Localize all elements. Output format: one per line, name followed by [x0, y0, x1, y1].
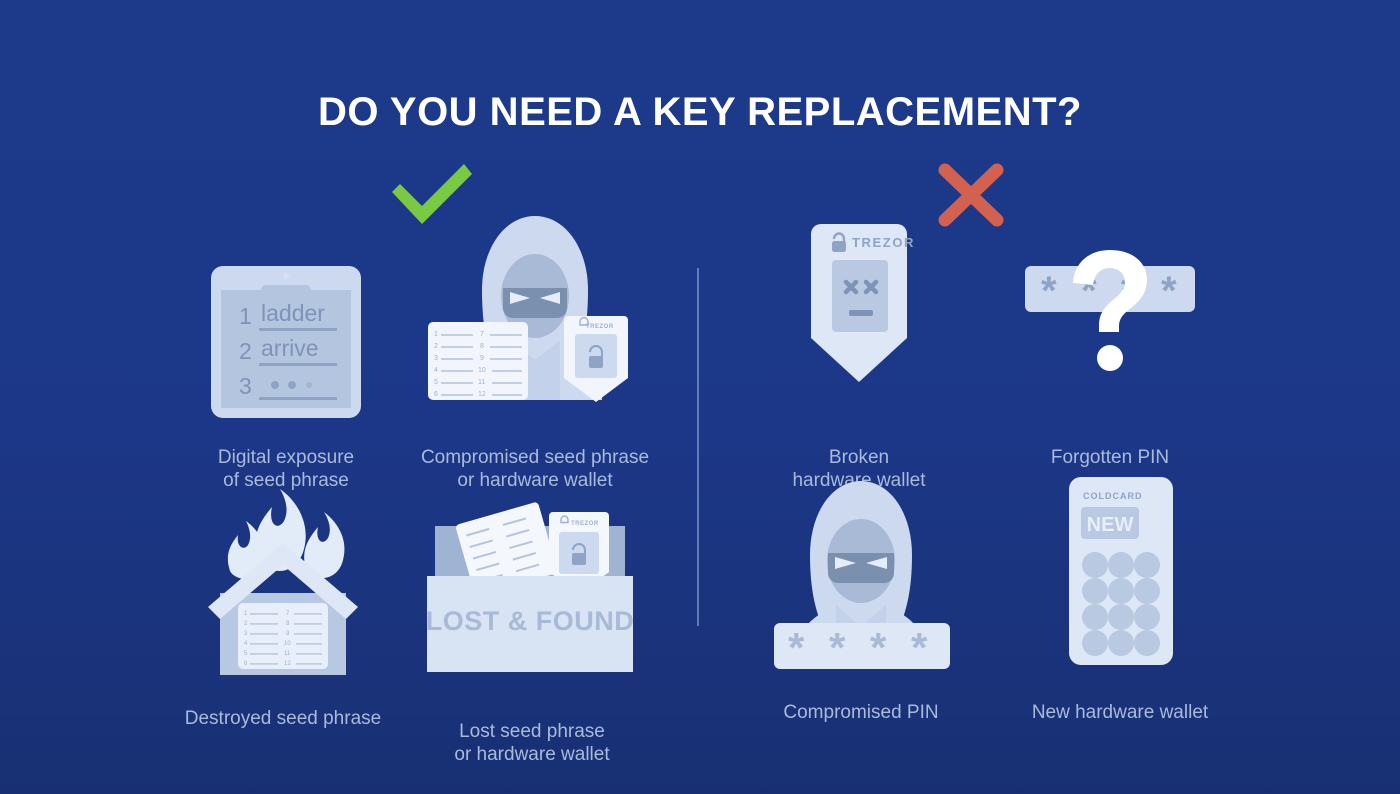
coldcard-screen-text: NEW — [1087, 514, 1134, 536]
illustration-lost-and-found-box: TREZOR LOST & FOUND — [407, 498, 657, 698]
pin-char: * — [1161, 269, 1177, 313]
wallet-brand-label: TREZOR — [586, 324, 614, 330]
seed-row-2-word: arrive — [261, 335, 319, 361]
caption-line: or hardware wallet — [410, 469, 660, 492]
seed-row-2-number: 2 — [239, 338, 252, 364]
page-title: DO YOU NEED A KEY REPLACEMENT? — [0, 90, 1400, 135]
caption-line: Digital exposure — [161, 446, 411, 469]
svg-text:1: 1 — [434, 331, 438, 338]
item-destroyed-seed: 17 28 39 410 511 612 — [158, 485, 408, 730]
item-caption: Compromised seed phrase or hardware wall… — [410, 446, 660, 492]
pin-char: * — [1041, 269, 1057, 313]
caption-line: or hardware wallet — [407, 743, 657, 766]
item-caption: New hardware wallet — [995, 701, 1245, 724]
svg-text:6: 6 — [434, 391, 438, 398]
caption-line: Forgotten PIN — [985, 446, 1235, 469]
svg-text:12: 12 — [284, 661, 291, 667]
svg-text:12: 12 — [478, 391, 486, 398]
seed-row-3-number: 3 — [239, 373, 252, 399]
svg-text:7: 7 — [480, 331, 484, 338]
illustration-broken-trezor: TREZOR — [734, 218, 984, 418]
svg-text:2: 2 — [434, 343, 438, 350]
wallet-brand-label: COLDCARD — [1083, 491, 1143, 501]
wallet-brand-label: TREZOR — [571, 521, 599, 527]
svg-text:10: 10 — [478, 367, 486, 374]
illustration-thief-with-seed-and-wallet: 17 28 39 410 511 612 — [410, 210, 660, 410]
item-lost-seed: TREZOR LOST & FOUND Lost seed phrase or … — [407, 498, 657, 766]
caption-line: Compromised seed phrase — [410, 446, 660, 469]
seed-row-1-word: ladder — [261, 300, 325, 326]
illustration-tablet-seed-phrase: 1 ladder 2 arrive 3 — [161, 228, 411, 428]
seed-row-1-number: 1 — [239, 303, 252, 329]
caption-line: Compromised PIN — [736, 701, 986, 724]
illustration-burning-house: 17 28 39 410 511 612 — [158, 485, 408, 685]
item-compromised-pin: * * * * Compromised PIN — [736, 473, 986, 724]
caption-line: Destroyed seed phrase — [158, 707, 408, 730]
box-label: LOST & FOUND — [426, 606, 635, 636]
column-divider — [697, 268, 699, 626]
illustration-thief-with-pin: * * * * — [736, 473, 986, 673]
item-compromised-seed: 17 28 39 410 511 612 — [410, 210, 660, 492]
svg-text:10: 10 — [284, 641, 291, 647]
item-caption: Lost seed phrase or hardware wallet — [407, 720, 657, 766]
pin-char: * — [911, 624, 928, 671]
svg-text:8: 8 — [480, 343, 484, 350]
item-digital-exposure: 1 ladder 2 arrive 3 Digital exposure of … — [161, 228, 411, 492]
svg-text:3: 3 — [434, 355, 438, 362]
seed-card: 17 28 39 410 511 612 — [238, 603, 328, 669]
illustration-forgotten-pin: * * * * — [985, 228, 1235, 428]
item-broken-wallet: TREZOR Broken hardware wallet — [734, 218, 984, 492]
svg-text:9: 9 — [480, 355, 484, 362]
pin-char: * — [788, 624, 805, 671]
item-caption: Destroyed seed phrase — [158, 707, 408, 730]
caption-line: Broken — [734, 446, 984, 469]
svg-text:5: 5 — [434, 379, 438, 386]
infographic-canvas: DO YOU NEED A KEY REPLACEMENT? 1 ladder — [0, 0, 1400, 794]
svg-text:4: 4 — [434, 367, 438, 374]
pin-char: * — [829, 624, 846, 671]
svg-text:11: 11 — [284, 651, 291, 657]
item-forgotten-pin: * * * * Forgotten PIN — [985, 228, 1235, 469]
item-new-wallet: COLDCARD NEW New hardware wallet — [995, 473, 1245, 724]
seed-card: 17 28 39 410 511 612 — [428, 322, 528, 400]
caption-line: New hardware wallet — [995, 701, 1245, 724]
svg-text:11: 11 — [478, 379, 485, 386]
item-caption: Compromised PIN — [736, 701, 986, 724]
item-caption: Forgotten PIN — [985, 446, 1235, 469]
pin-char: * — [870, 624, 887, 671]
wallet-brand-label: TREZOR — [852, 235, 915, 250]
caption-line: Lost seed phrase — [407, 720, 657, 743]
illustration-coldcard: COLDCARD NEW — [995, 473, 1245, 673]
